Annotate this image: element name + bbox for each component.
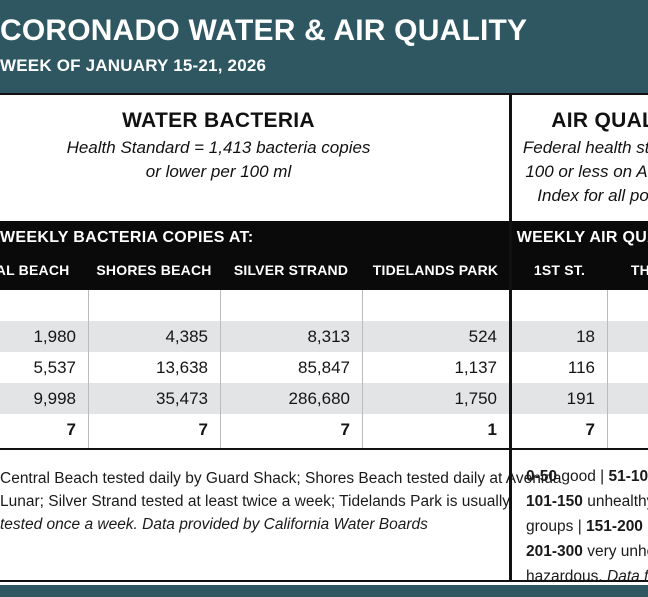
column-header-tidelands-park: TIDELANDS PARK — [362, 257, 509, 283]
water-panel-title: WATER BACTERIA — [0, 108, 509, 133]
water-intro: WATER BACTERIA Health Standard = 1,413 b… — [0, 93, 509, 221]
water-footnote-line-2: Lunar; Silver Strand tested at least twi… — [0, 490, 493, 513]
air-legend-line: 101-150 unhealthy for sensitive — [526, 489, 648, 514]
cell-central-beach: 1,980 — [0, 321, 88, 352]
cell-shores-beach: 7 — [88, 414, 220, 445]
cell-the-cove: 21 — [607, 321, 648, 352]
water-band-caption: WEEKLY BACTERIA COPIES AT: — [0, 221, 509, 248]
air-standard-line-3: Index for all pollutants — [512, 184, 648, 208]
column-divider — [88, 290, 89, 448]
infographic-root: CORONADO WATER & AIR QUALITY WEEK OF JAN… — [0, 0, 648, 597]
air-legend-source: Data from AirNow — [607, 568, 648, 585]
table-row: 5,537 13,638 85,847 1,137 116 98 — [0, 352, 648, 383]
air-intro: AIR QUALITY Federal health standard = 10… — [512, 93, 648, 221]
cell-1st-st: 18 — [512, 321, 607, 352]
air-legend-range: 0-50 — [526, 468, 557, 485]
water-footnotes: Central Beach tested daily by Guard Shac… — [0, 450, 509, 582]
column-header-shores-beach: SHORES BEACH — [88, 257, 220, 283]
cell-shores-beach — [88, 290, 220, 321]
cell-1st-st — [512, 290, 607, 321]
water-header-band: WEEKLY BACTERIA COPIES AT: CENTRAL BEACH… — [0, 221, 509, 290]
page-title: CORONADO WATER & AIR QUALITY — [0, 14, 648, 48]
footnotes-section: Central Beach tested daily by Guard Shac… — [0, 450, 648, 582]
air-standard-line-2: 100 or less on Air Quality — [512, 160, 648, 184]
column-divider — [220, 290, 221, 448]
cell-central-beach: 5,537 — [0, 352, 88, 383]
air-header-band: WEEKLY AIR QUALITY AT: 1ST ST. THE COVE — [512, 221, 648, 290]
cell-tidelands-park: 524 — [362, 321, 509, 352]
cell-central-beach — [0, 290, 88, 321]
air-legend-text: groups | — [526, 518, 586, 535]
table-row: 9,998 35,473 286,680 1,750 191 164 — [0, 383, 648, 414]
cell-shores-beach: 35,473 — [88, 383, 220, 414]
air-legend-range: 51-100 — [608, 468, 648, 485]
column-header-band: WEEKLY BACTERIA COPIES AT: CENTRAL BEACH… — [0, 221, 648, 290]
water-standard-line-2: or lower per 100 ml — [0, 160, 509, 184]
cell-tidelands-park — [362, 290, 509, 321]
air-legend-range: 151-200 — [586, 518, 643, 535]
cell-central-beach: 9,998 — [0, 383, 88, 414]
air-legend: 0-50 good | 51-100 moderate | 101-150 un… — [512, 450, 648, 582]
water-column-labels: CENTRAL BEACH SHORES BEACH SILVER STRAND… — [0, 257, 509, 290]
air-legend-line: 201-300 very unhealthy | 301+ — [526, 539, 648, 564]
cell-silver-strand: 286,680 — [220, 383, 362, 414]
footer-strip — [0, 585, 648, 597]
water-standard-line-1: Health Standard = 1,413 bacteria copies — [0, 136, 509, 160]
table-row: 1,980 4,385 8,313 524 18 21 — [0, 321, 648, 352]
cell-tidelands-park: 1 — [362, 414, 509, 445]
intro-section: WATER BACTERIA Health Standard = 1,413 b… — [0, 93, 648, 221]
cell-silver-strand: 7 — [220, 414, 362, 445]
cell-the-cove — [607, 290, 648, 321]
air-legend-range: 101-150 — [526, 493, 583, 510]
table-row: 7 7 7 1 7 7 — [0, 414, 648, 445]
infographic-sheet: CORONADO WATER & AIR QUALITY WEEK OF JAN… — [0, 0, 648, 597]
air-legend-text: very unhealthy | — [583, 543, 648, 560]
cell-the-cove: 98 — [607, 352, 648, 383]
cell-tidelands-park: 1,137 — [362, 352, 509, 383]
cell-silver-strand: 85,847 — [220, 352, 362, 383]
column-header-1st-st: 1ST ST. — [512, 257, 607, 283]
masthead: CORONADO WATER & AIR QUALITY WEEK OF JAN… — [0, 0, 648, 93]
cell-tidelands-park: 1,750 — [362, 383, 509, 414]
air-legend-text: good | — [557, 468, 608, 485]
air-panel-title: AIR QUALITY — [512, 108, 648, 133]
cell-the-cove: 7 — [607, 414, 648, 445]
column-header-silver-strand: SILVER STRAND — [220, 257, 362, 283]
cell-central-beach: 7 — [0, 414, 88, 445]
cell-shores-beach: 4,385 — [88, 321, 220, 352]
column-divider — [362, 290, 363, 448]
air-legend-text: unhealthy for sensitive — [583, 493, 648, 510]
cell-the-cove: 164 — [607, 383, 648, 414]
column-divider — [607, 290, 608, 448]
air-band-caption: WEEKLY AIR QUALITY AT: — [512, 221, 648, 248]
cell-shores-beach: 13,638 — [88, 352, 220, 383]
table-row — [0, 290, 648, 321]
water-footnote-source: tested once a week. Data provided by Cal… — [0, 513, 493, 536]
air-legend-line: 0-50 good | 51-100 moderate | — [526, 464, 648, 489]
air-legend-line: groups | 151-200 unhealthy | — [526, 514, 648, 539]
cell-1st-st: 7 — [512, 414, 607, 445]
data-grid: 1,980 4,385 8,313 524 18 21 5,537 13,638… — [0, 290, 648, 448]
column-header-central-beach: CENTRAL BEACH — [0, 257, 88, 283]
grid-bottom-rule — [0, 448, 648, 450]
air-standard-line-1: Federal health standard = — [512, 136, 648, 160]
page-subtitle: WEEK OF JANUARY 15-21, 2026 — [0, 55, 648, 77]
air-legend-text: hazardous. — [526, 568, 607, 585]
cell-1st-st: 116 — [512, 352, 607, 383]
water-footnote-line-1: Central Beach tested daily by Guard Shac… — [0, 467, 493, 490]
column-header-the-cove: THE COVE — [607, 257, 648, 283]
panel-divider — [509, 93, 512, 582]
cell-1st-st: 191 — [512, 383, 607, 414]
air-legend-text: unhealthy | — [643, 518, 648, 535]
cell-silver-strand: 8,313 — [220, 321, 362, 352]
air-legend-range: 201-300 — [526, 543, 583, 560]
air-column-labels: 1ST ST. THE COVE — [512, 257, 648, 290]
cell-silver-strand — [220, 290, 362, 321]
